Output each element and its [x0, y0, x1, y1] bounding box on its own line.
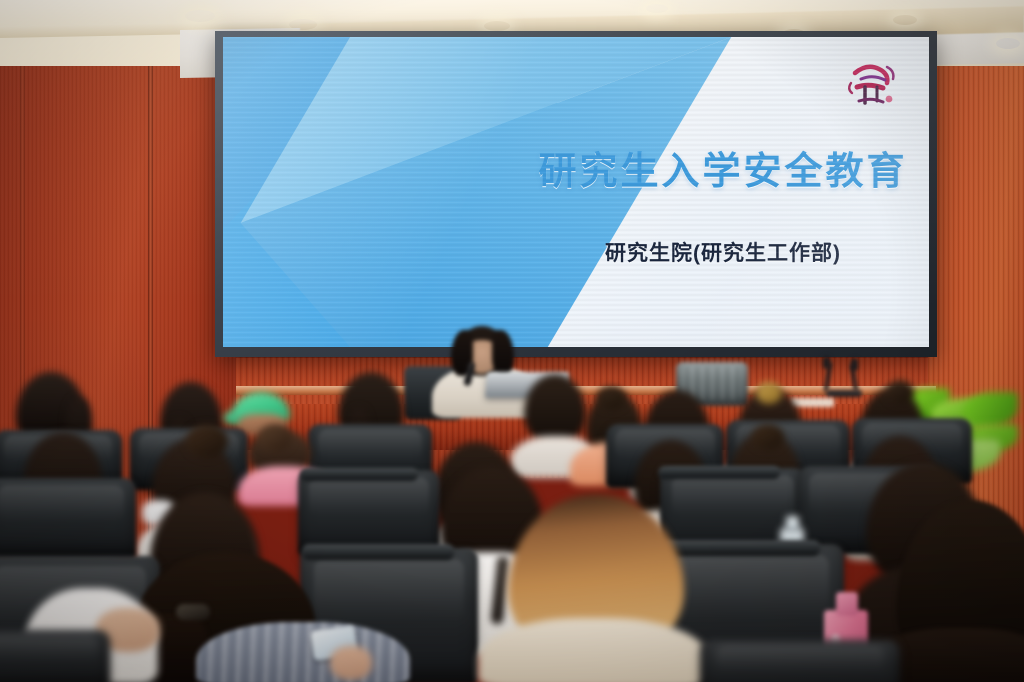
hair-tie	[176, 604, 210, 620]
slide-subtitle: 研究生院(研究生工作部)	[523, 237, 923, 267]
slide-title: 研究生入学安全教育	[523, 153, 923, 193]
downlight-7	[996, 38, 1020, 49]
projection-screen: 研究生入学安全教育 研究生院(研究生工作部)	[223, 37, 929, 347]
microphone-2-head	[851, 358, 858, 371]
projection-screen-frame: 研究生入学安全教育 研究生院(研究生工作部)	[215, 31, 937, 357]
microphone-1-head	[823, 356, 830, 369]
lecture-hall-photo: 研究生入学安全教育 研究生院(研究生工作部)	[0, 0, 1024, 682]
downlight-1	[185, 10, 215, 22]
presentation-slide: 研究生入学安全教育 研究生院(研究生工作部)	[223, 37, 929, 347]
downlight-3	[484, 21, 510, 31]
seat-armrest	[302, 544, 454, 560]
seat-armrest	[662, 540, 820, 556]
seat-foreground-right	[700, 640, 900, 682]
podium-paper	[790, 398, 834, 407]
microphone-base	[826, 390, 862, 397]
seat-armrest	[300, 468, 418, 481]
downlight-2	[289, 19, 317, 30]
seat-foreground-left	[0, 630, 110, 682]
downlight-6	[893, 15, 917, 25]
hand	[330, 646, 372, 680]
downlight-4	[646, 4, 668, 13]
calligraphy-logo-icon	[843, 57, 905, 115]
seat-armrest	[658, 466, 780, 479]
